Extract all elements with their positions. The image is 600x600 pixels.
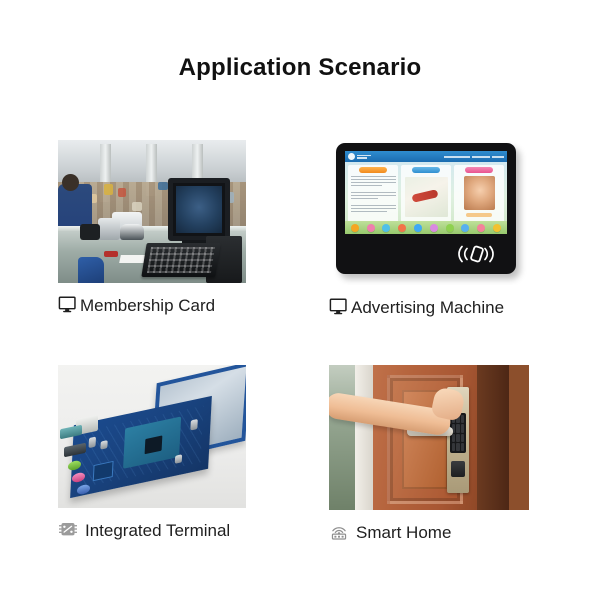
caption-smart-home: Smart Home: [329, 520, 600, 544]
kiosk-topbar: [345, 151, 507, 162]
label-membership-card: Membership Card: [80, 297, 215, 314]
label-integrated-terminal: Integrated Terminal: [85, 522, 230, 539]
photo-integrated-terminal: [58, 365, 246, 508]
io-ports: [60, 423, 94, 493]
scenario-grid: Membership Card: [0, 140, 600, 590]
monitor-icon: [58, 296, 78, 314]
kiosk-device: [336, 143, 516, 274]
scenario-row-bottom: Integrated Terminal: [0, 365, 600, 590]
kiosk-photo: [329, 140, 529, 285]
photo-advertising-machine: [329, 140, 529, 285]
caption-integrated-terminal: Integrated Terminal: [58, 518, 329, 542]
monitor-icon: [329, 298, 349, 316]
page-title: Application Scenario: [0, 54, 600, 82]
scenario-card-membership-card[interactable]: Membership Card: [58, 140, 329, 365]
dev-board-photo: [58, 365, 246, 508]
router-wifi-icon: [329, 523, 349, 541]
label-advertising-machine: Advertising Machine: [351, 299, 504, 316]
label-smart-home: Smart Home: [356, 524, 451, 541]
scenario-card-integrated-terminal[interactable]: Integrated Terminal: [58, 365, 329, 590]
smart-lock-photo: [329, 365, 529, 510]
kiosk-logo: [348, 153, 371, 160]
photo-membership-card: [58, 140, 246, 283]
photo-smart-home: [329, 365, 529, 510]
chip-icon: [58, 521, 78, 539]
pos-counter-photo: [58, 140, 246, 283]
kiosk-bezel: [336, 238, 516, 274]
caption-advertising-machine: Advertising Machine: [329, 295, 600, 319]
kiosk-screen: [345, 151, 507, 234]
scenario-card-advertising-machine[interactable]: Advertising Machine: [329, 140, 600, 365]
kiosk-status-strip: [444, 156, 504, 158]
caption-membership-card: Membership Card: [58, 293, 329, 317]
kiosk-icon-row[interactable]: [345, 221, 507, 234]
scenario-card-smart-home[interactable]: Smart Home: [329, 365, 600, 590]
nfc-contactless-icon: [450, 242, 502, 266]
scenario-row-top: Membership Card: [0, 140, 600, 365]
